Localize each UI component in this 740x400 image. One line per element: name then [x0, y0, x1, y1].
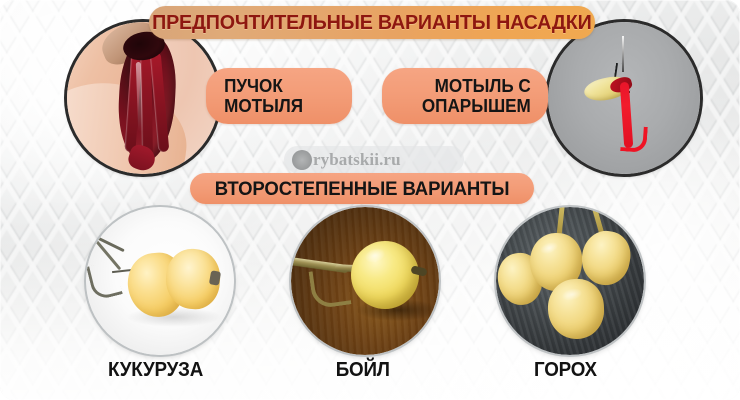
photo-bunch-of-bloodworm-image: [67, 22, 219, 174]
photo-bloodworm-with-maggot: [548, 22, 700, 174]
watermark-text: rybatskii.ru: [313, 150, 401, 170]
photo-boilie: [291, 207, 439, 355]
photo-peas: [496, 207, 644, 355]
caption-peas: ГОРОХ: [534, 359, 597, 382]
photo-boilie-image: [291, 207, 439, 355]
pea: [546, 278, 605, 341]
label-bloodworm-with-maggot-text: МОТЫЛЬ С ОПАРЫШЕМ: [422, 76, 531, 116]
label-secondary-options: ВТОРОСТЕПЕННЫЕ ВАРИАНТЫ: [190, 173, 534, 204]
label-bunch-of-bloodworm-text: ПУЧОК МОТЫЛЯ: [224, 76, 303, 116]
circle-logo-icon: [292, 150, 312, 170]
photo-bloodworm-with-maggot-image: [548, 22, 700, 174]
photo-bunch-of-bloodworm: [67, 22, 219, 174]
caption-corn: КУКУРУЗА: [108, 359, 203, 382]
photo-corn-image: [86, 207, 234, 355]
photo-corn: [86, 207, 234, 355]
title-banner: ПРЕДПОЧТИТЕЛЬНЫЕ ВАРИАНТЫ НАСАДКИ: [149, 6, 595, 39]
photo-peas-image: [496, 207, 644, 355]
label-bunch-of-bloodworm: ПУЧОК МОТЫЛЯ: [206, 68, 352, 124]
label-secondary-options-text: ВТОРОСТЕПЕННЫЕ ВАРИАНТЫ: [215, 179, 510, 199]
bloodworm-curl: [620, 125, 648, 153]
watermark: rybatskii.ru: [284, 146, 464, 173]
label-bloodworm-with-maggot: МОТЫЛЬ С ОПАРЫШЕМ: [382, 68, 548, 124]
fishing-bait-infographic: ПРЕДПОЧТИТЕЛЬНЫЕ ВАРИАНТЫ НАСАДКИ ПУЧОК …: [0, 0, 740, 400]
hook-bend: [309, 267, 352, 310]
boilie-ball: [351, 241, 419, 309]
caption-boilie: БОЙЛ: [336, 359, 390, 382]
title-banner-text: ПРЕДПОЧТИТЕЛЬНЫЕ ВАРИАНТЫ НАСАДКИ: [152, 11, 591, 35]
